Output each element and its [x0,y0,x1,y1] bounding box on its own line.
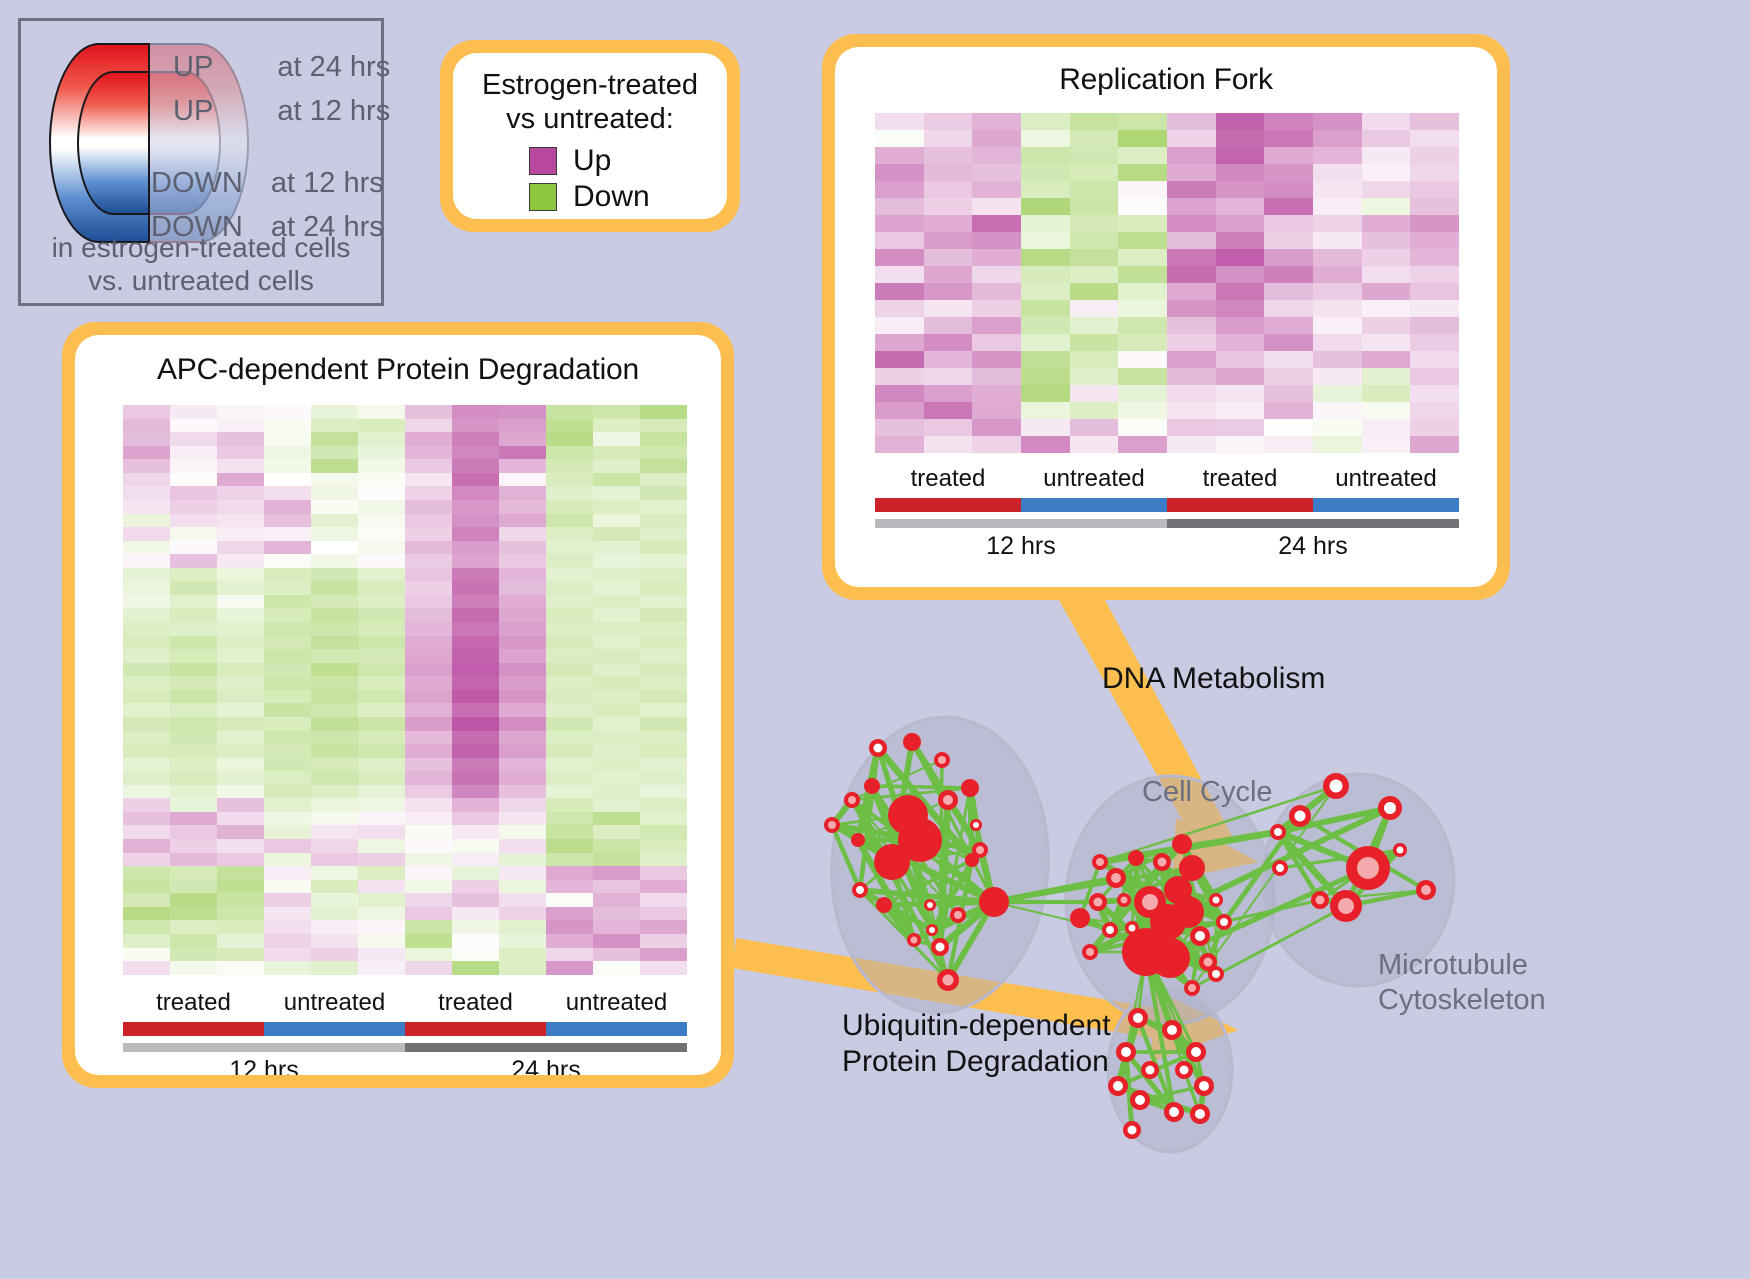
heatmap-cell [1216,300,1265,317]
heatmap-cell [170,541,217,555]
heatmap-cell [358,920,405,934]
heatmap-cell [875,334,924,351]
heatmap-cell [1021,385,1070,402]
heatmap-cell [546,961,593,975]
circle-midline [148,43,150,243]
network-node-core [1106,926,1114,934]
heatmap-cell [217,527,264,541]
heatmap-cell [1167,317,1216,334]
heatmap-cell [358,907,405,921]
heatmap-cell [311,419,358,433]
heatmap-cell [170,703,217,717]
heatmap-cell [924,232,973,249]
heatmap-cell [875,181,924,198]
heatmap-cell [593,581,640,595]
heatmap-cell [499,432,546,446]
heatmap-cell [311,703,358,717]
heatmap-cell [311,920,358,934]
heatmap-cell [1167,283,1216,300]
heatmap-cell [924,419,973,436]
heatmap-cell [1362,436,1411,453]
heatmap-cell [546,853,593,867]
heatmap-grid [875,113,1459,453]
network-node-core [828,821,836,829]
heatmap-cell [264,893,311,907]
heatmap-cell [546,622,593,636]
heatmap-cell [264,541,311,555]
network-node-core [856,886,864,894]
heatmap-cell [217,446,264,460]
heatmap-cell [264,907,311,921]
condition-label: untreated [1021,465,1167,493]
heatmap-cell [972,249,1021,266]
network-node[interactable] [1150,938,1190,978]
heatmap-cell [972,300,1021,317]
heatmap-cell [640,568,687,582]
heatmap-cell [358,432,405,446]
network-node[interactable] [1172,834,1192,854]
heatmap-cell [405,839,452,853]
network-node[interactable] [961,779,979,797]
heatmap-cell [123,907,170,921]
heatmap-cell [924,181,973,198]
heatmap-cell [264,446,311,460]
heatmap-cell [264,432,311,446]
heatmap-cell [1313,181,1362,198]
condition-labels: treateduntreatedtreateduntreated [875,465,1459,493]
heatmap-cell [170,568,217,582]
heatmap-cell [217,581,264,595]
heatmap-cell [1167,232,1216,249]
heatmap-cell [972,147,1021,164]
heatmap-cell [1216,402,1265,419]
heatmap-cell [405,907,452,921]
heatmap-cell [452,744,499,758]
network-node-core [938,756,946,764]
heatmap-cell [1118,300,1167,317]
heatmap-cell [546,690,593,704]
heatmap-cell [499,703,546,717]
heatmap-cell [546,663,593,677]
heatmap-cell [1021,334,1070,351]
heatmap-cell [311,880,358,894]
heatmap-cell [405,812,452,826]
heatmap-cell [123,432,170,446]
heatmap-cell [217,514,264,528]
heatmap-cell [499,622,546,636]
heatmap-cell [1264,249,1313,266]
heatmap-cell [452,893,499,907]
heatmap-cell [1216,368,1265,385]
heatmap-cell [405,514,452,528]
heatmap-cell [546,839,593,853]
heatmap-cell [452,690,499,704]
heatmap-cell [593,608,640,622]
heatmap-cell [499,812,546,826]
heatmap-cell [546,866,593,880]
heatmap-cell [311,405,358,419]
heatmap-cell [875,130,924,147]
heatmap-cell [972,198,1021,215]
heatmap-cell [546,432,593,446]
condition-color-bar [123,1022,264,1036]
heatmap-cell [1021,249,1070,266]
heatmap-cell [358,717,405,731]
heatmap-cell [593,825,640,839]
heatmap-cell [1362,317,1411,334]
network-node[interactable] [851,833,865,847]
heatmap-cell [875,368,924,385]
heatmap-cell [405,853,452,867]
network-node[interactable] [903,733,921,751]
heatmap-cell [1362,198,1411,215]
heatmap-cell [1118,215,1167,232]
heatmap-cell [1264,351,1313,368]
apc-degradation-axis: treateduntreatedtreateduntreated 12 hrs2… [123,989,687,1075]
network-node[interactable] [1172,896,1204,928]
heatmap-cell [264,731,311,745]
heatmap-cell [123,568,170,582]
heatmap-cell [123,608,170,622]
heatmap-cell [1410,334,1459,351]
heatmap-cell [546,948,593,962]
heatmap-cell [1118,198,1167,215]
heatmap-cell [1070,351,1119,368]
heatmap-cell [924,368,973,385]
heatmap-cell [264,608,311,622]
heatmap-cell [1070,181,1119,198]
heatmap-cell [640,948,687,962]
heatmap-cell [123,758,170,772]
heatmap-cell [1216,334,1265,351]
heatmap-cell [452,717,499,731]
heatmap-cell [452,541,499,555]
heatmap-cell [217,948,264,962]
condition-label: treated [875,465,1021,493]
network-node-core [1188,984,1196,992]
network-node[interactable] [864,778,880,794]
heatmap-cell [217,893,264,907]
heatmap-cell [452,934,499,948]
timepoint-color-bars [123,1043,687,1052]
heatmap-cell [499,676,546,690]
network-node-core [1357,857,1379,879]
heatmap-cell [358,731,405,745]
heatmap-cell [1362,334,1411,351]
timepoint-labels: 12 hrs24 hrs [123,1056,687,1075]
up-label: Up [573,144,611,178]
heatmap-cell [640,771,687,785]
heatmap-cell [640,595,687,609]
timepoint-label: 12 hrs [875,532,1167,561]
heatmap-cell [499,649,546,663]
timepoint-label: 24 hrs [405,1056,687,1075]
heatmap-cell [640,500,687,514]
network-node-core [1204,958,1213,967]
heatmap-cell [546,825,593,839]
heatmap-cell [217,934,264,948]
heatmap-cell [1216,215,1265,232]
heatmap-cell [1410,402,1459,419]
heatmap-cell [1216,419,1265,436]
heatmap-cell [499,798,546,812]
heatmap-cell [546,934,593,948]
heatmap-cell [640,663,687,677]
heatmap-cell [264,690,311,704]
heatmap-cell [1410,147,1459,164]
heatmap-cell [170,595,217,609]
heatmap-cell [311,853,358,867]
heatmap-cell [311,595,358,609]
heatmap-cell [1070,368,1119,385]
heatmap-cell [1167,249,1216,266]
heatmap-cell [311,758,358,772]
heatmap-cell [593,853,640,867]
heatmap-cell [924,130,973,147]
heatmap-cell [546,731,593,745]
heatmap-cell [358,798,405,812]
heatmap-cell [924,385,973,402]
heatmap-cell [170,948,217,962]
heatmap-cell [640,405,687,419]
heatmap-cell [217,758,264,772]
cluster-label-ubiquitin-degradation: Ubiquitin-dependent Protein Degradation [842,1008,1111,1080]
heatmap-cell [1264,334,1313,351]
heatmap-cell [123,541,170,555]
heatmap-cell [593,758,640,772]
heatmap-cell [217,690,264,704]
condition-label: untreated [264,989,405,1017]
network-node-core [911,937,918,944]
heatmap-cell [546,568,593,582]
heatmap-cell [123,527,170,541]
heatmap-cell [311,907,358,921]
network-node[interactable] [965,853,979,867]
heatmap-cell [546,907,593,921]
heatmap-cell [1070,249,1119,266]
heatmap-cell [924,351,973,368]
heatmap-cell [170,893,217,907]
condition-color-bar [405,1022,546,1036]
replication-fork-heatmap [875,113,1459,453]
heatmap-cell [593,636,640,650]
heatmap-cell [264,595,311,609]
heatmap-cell [358,703,405,717]
network-node[interactable] [1179,855,1205,881]
network-node-core [1121,1047,1131,1057]
condition-label: treated [123,989,264,1017]
heatmap-cell [593,419,640,433]
heatmap-cell [170,459,217,473]
heatmap-cell [170,731,217,745]
heatmap-cell [405,920,452,934]
heatmap-cell [358,853,405,867]
heatmap-cell [405,541,452,555]
heatmap-cell [1118,130,1167,147]
heatmap-cell [1264,181,1313,198]
heatmap-cell [875,249,924,266]
network-node-core [1133,1013,1143,1023]
heatmap-cell [123,500,170,514]
heatmap-cell [170,866,217,880]
network-node-core [1121,897,1128,904]
heatmap-cell [499,405,546,419]
heatmap-cell [358,541,405,555]
heatmap-cell [1070,317,1119,334]
network-node[interactable] [1070,908,1090,928]
heatmap-cell [1070,113,1119,130]
timepoint-color-bar [875,519,1167,528]
heatmap-cell [1021,130,1070,147]
heatmap-cell [264,880,311,894]
timepoint-color-bar [1167,519,1459,528]
heatmap-cell [1410,198,1459,215]
network-node[interactable] [876,897,892,913]
heatmap-cell [1021,368,1070,385]
microtubule-line2: Cytoskeleton [1378,983,1546,1018]
heatmap-cell [311,527,358,541]
heatmap-cell [593,961,640,975]
heatmap-cell [217,419,264,433]
heatmap-cell [217,771,264,785]
heatmap-cell [170,554,217,568]
heatmap-cell [1070,419,1119,436]
heatmap-cell [1264,300,1313,317]
heatmap-cell [499,608,546,622]
heatmap-cell [217,961,264,975]
heatmap-cell [358,812,405,826]
condition-color-bar [1167,498,1313,512]
heatmap-cell [1021,232,1070,249]
replication-fork-axis: treateduntreatedtreateduntreated 12 hrs2… [875,465,1459,561]
heatmap-cell [264,744,311,758]
network-node[interactable] [979,887,1009,917]
heatmap-cell [546,419,593,433]
heatmap-cell [170,961,217,975]
heatmap-cell [875,215,924,232]
heatmap-cell [264,500,311,514]
heatmap-cell [452,880,499,894]
network-node-core [973,822,979,828]
heatmap-cell [1313,419,1362,436]
heatmap-cell [264,649,311,663]
heatmap-cell [593,907,640,921]
heatmap-cell [123,486,170,500]
heatmap-cell [264,554,311,568]
heatmap-cell [1167,436,1216,453]
heatmap-cell [640,419,687,433]
heatmap-cell [1118,283,1167,300]
heatmap-cell [405,663,452,677]
heatmap-cell [546,500,593,514]
heatmap-cell [1362,215,1411,232]
heatmap-cell [358,893,405,907]
heatmap-cell [1216,181,1265,198]
heatmap-cell [170,825,217,839]
heatmap-cell [123,473,170,487]
heatmap-cell [170,527,217,541]
heatmap-cell [405,527,452,541]
heatmap-cell [405,758,452,772]
heatmap-cell [1313,147,1362,164]
heatmap-cell [264,459,311,473]
heatmap-cell [1313,334,1362,351]
heatmap-cell [593,527,640,541]
heatmap-cell [1070,232,1119,249]
heatmap-cell [170,717,217,731]
network-node-core [1128,1126,1137,1135]
legend-updown-header-line1: Estrogen-treated [463,69,717,103]
network-node[interactable] [874,844,910,880]
heatmap-cell [499,744,546,758]
heatmap-cell [1264,164,1313,181]
heatmap-cell [1021,300,1070,317]
heatmap-cell [640,893,687,907]
heatmap-cell [875,283,924,300]
heatmap-cell [875,300,924,317]
heatmap-cell [217,907,264,921]
network-node-core [1212,970,1220,978]
heatmap-cell [1362,402,1411,419]
heatmap-cell [358,866,405,880]
cluster-label-dna-metabolism: DNA Metabolism [1102,662,1325,696]
heatmap-cell [640,825,687,839]
heatmap-cell [875,198,924,215]
heatmap-cell [1216,436,1265,453]
network-node-core [1129,925,1136,932]
heatmap-cell [264,948,311,962]
heatmap-cell [405,744,452,758]
heatmap-cell [1167,215,1216,232]
apc-degradation-title: APC-dependent Protein Degradation [75,353,721,387]
heatmap-cell [217,622,264,636]
heatmap-cell [123,419,170,433]
network-node[interactable] [1128,850,1144,866]
heatmap-cell [972,266,1021,283]
heatmap-cell [358,676,405,690]
heatmap-cell [358,568,405,582]
heatmap-cell [593,744,640,758]
heatmap-cell [405,717,452,731]
heatmap-cell [1021,436,1070,453]
heatmap-cell [546,676,593,690]
heatmap-cell [217,866,264,880]
heatmap-cell [452,527,499,541]
heatmap-cell [546,595,593,609]
heatmap-cell [1167,334,1216,351]
heatmap-cell [311,636,358,650]
heatmap-cell [264,920,311,934]
heatmap-cell [264,676,311,690]
heatmap-cell [452,676,499,690]
heatmap-cell [499,880,546,894]
heatmap-cell [499,541,546,555]
heatmap-cell [972,130,1021,147]
heatmap-cell [499,866,546,880]
heatmap-cell [1362,419,1411,436]
heatmap-cell [1410,266,1459,283]
heatmap-cell [123,636,170,650]
heatmap-cell [972,215,1021,232]
heatmap-cell [546,649,593,663]
condition-color-bar [1021,498,1167,512]
heatmap-cell [593,554,640,568]
heatmap-cell [1313,283,1362,300]
heatmap-cell [499,446,546,460]
heatmap-cell [546,554,593,568]
heatmap-cell [123,514,170,528]
heatmap-cell [264,636,311,650]
